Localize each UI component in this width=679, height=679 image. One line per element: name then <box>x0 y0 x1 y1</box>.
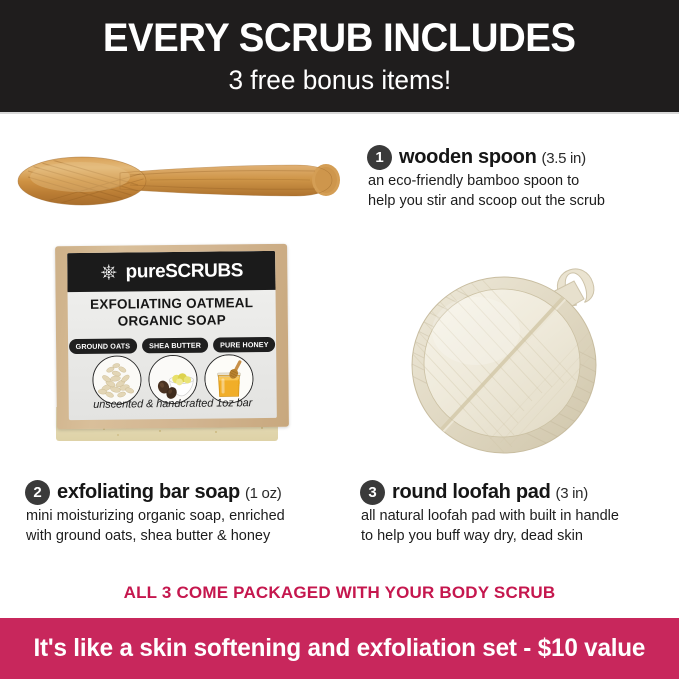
item-2-description: mini moisturizing organic soap, enriched… <box>26 507 346 546</box>
bar-soap-image: pureSCRUBS EXFOLIATING OATMEAL ORGANIC S… <box>52 243 292 458</box>
item-3-number-badge: 3 <box>361 481 384 504</box>
item-2-title-text: exfoliating bar soap <box>57 481 240 503</box>
ingredient-badge-shea: SHEA BUTTER <box>142 338 208 354</box>
item-3-desc-line-1: all natural loofah pad with built in han… <box>361 507 671 527</box>
item-2-desc-line-2: with ground oats, shea butter & honey <box>26 527 346 547</box>
item-1-heading: 1 wooden spoon(3.5 in) <box>368 146 668 169</box>
ingredient-badge-honey: PURE HONEY <box>213 337 276 353</box>
soap-label-footer: unscented & handcrafted 1oz bar <box>69 397 277 411</box>
item-2-size: (1 oz) <box>245 485 282 502</box>
soap-label-card: pureSCRUBS EXFOLIATING OATMEAL ORGANIC S… <box>67 251 277 420</box>
item-2-heading: 2 exfoliating bar soap(1 oz) <box>26 481 346 504</box>
item-3-title-text: round loofah pad <box>392 481 551 503</box>
item-1-text-block: 1 wooden spoon(3.5 in) an eco-friendly b… <box>368 146 668 211</box>
item-2-text-block: 2 exfoliating bar soap(1 oz) mini moistu… <box>26 481 346 546</box>
soap-kraft-wrapper: pureSCRUBS EXFOLIATING OATMEAL ORGANIC S… <box>55 244 289 429</box>
soap-brand-name: pureSCRUBS <box>126 260 244 283</box>
item-1-title-text: wooden spoon <box>399 146 537 168</box>
loofah-pad-image <box>404 243 639 458</box>
item-1-number-badge: 1 <box>368 146 391 169</box>
mandala-logo-icon <box>100 263 119 282</box>
item-3-size: (3 in) <box>556 485 588 502</box>
item-2-number-badge: 2 <box>26 481 49 504</box>
soap-ingredient-badges: GROUND OATS SHEA BUTTER PURE HONEY <box>68 337 276 354</box>
ingredient-badge-oats: GROUND OATS <box>69 338 138 354</box>
soap-product-name: EXFOLIATING OATMEAL ORGANIC SOAP <box>68 294 276 331</box>
item-2-desc-line-1: mini moisturizing organic soap, enriched <box>26 507 346 527</box>
wooden-spoon-image <box>10 143 355 218</box>
item-3-title: round loofah pad(3 in) <box>392 481 588 504</box>
header-divider <box>0 112 679 114</box>
soap-brand-band: pureSCRUBS <box>67 251 275 292</box>
item-3-description: all natural loofah pad with built in han… <box>361 507 671 546</box>
item-3-desc-line-2: to help you buff way dry, dead skin <box>361 527 671 547</box>
item-1-desc-line-2: help you stir and scoop out the scrub <box>368 192 668 212</box>
item-1-description: an eco-friendly bamboo spoon to help you… <box>368 172 668 211</box>
page-title: EVERY SCRUB INCLUDES <box>103 18 576 58</box>
item-2-title: exfoliating bar soap(1 oz) <box>57 481 281 504</box>
soap-product-line-1: EXFOLIATING OATMEAL <box>68 294 276 313</box>
infographic-page: EVERY SCRUB INCLUDES 3 free bonus items! <box>0 0 679 679</box>
header-banner: EVERY SCRUB INCLUDES 3 free bonus items! <box>0 0 679 112</box>
value-banner: It's like a skin softening and exfoliati… <box>0 618 679 679</box>
item-1-size: (3.5 in) <box>542 150 586 167</box>
item-3-text-block: 3 round loofah pad(3 in) all natural loo… <box>361 481 671 546</box>
item-1-title: wooden spoon(3.5 in) <box>399 146 586 169</box>
soap-product-line-2: ORGANIC SOAP <box>68 311 276 330</box>
item-3-heading: 3 round loofah pad(3 in) <box>361 481 671 504</box>
page-subtitle: 3 free bonus items! <box>228 67 451 94</box>
packaging-tagline: ALL 3 COME PACKAGED WITH YOUR BODY SCRUB <box>0 583 679 603</box>
item-1-desc-line-1: an eco-friendly bamboo spoon to <box>368 172 668 192</box>
value-banner-text: It's like a skin softening and exfoliati… <box>34 634 646 663</box>
